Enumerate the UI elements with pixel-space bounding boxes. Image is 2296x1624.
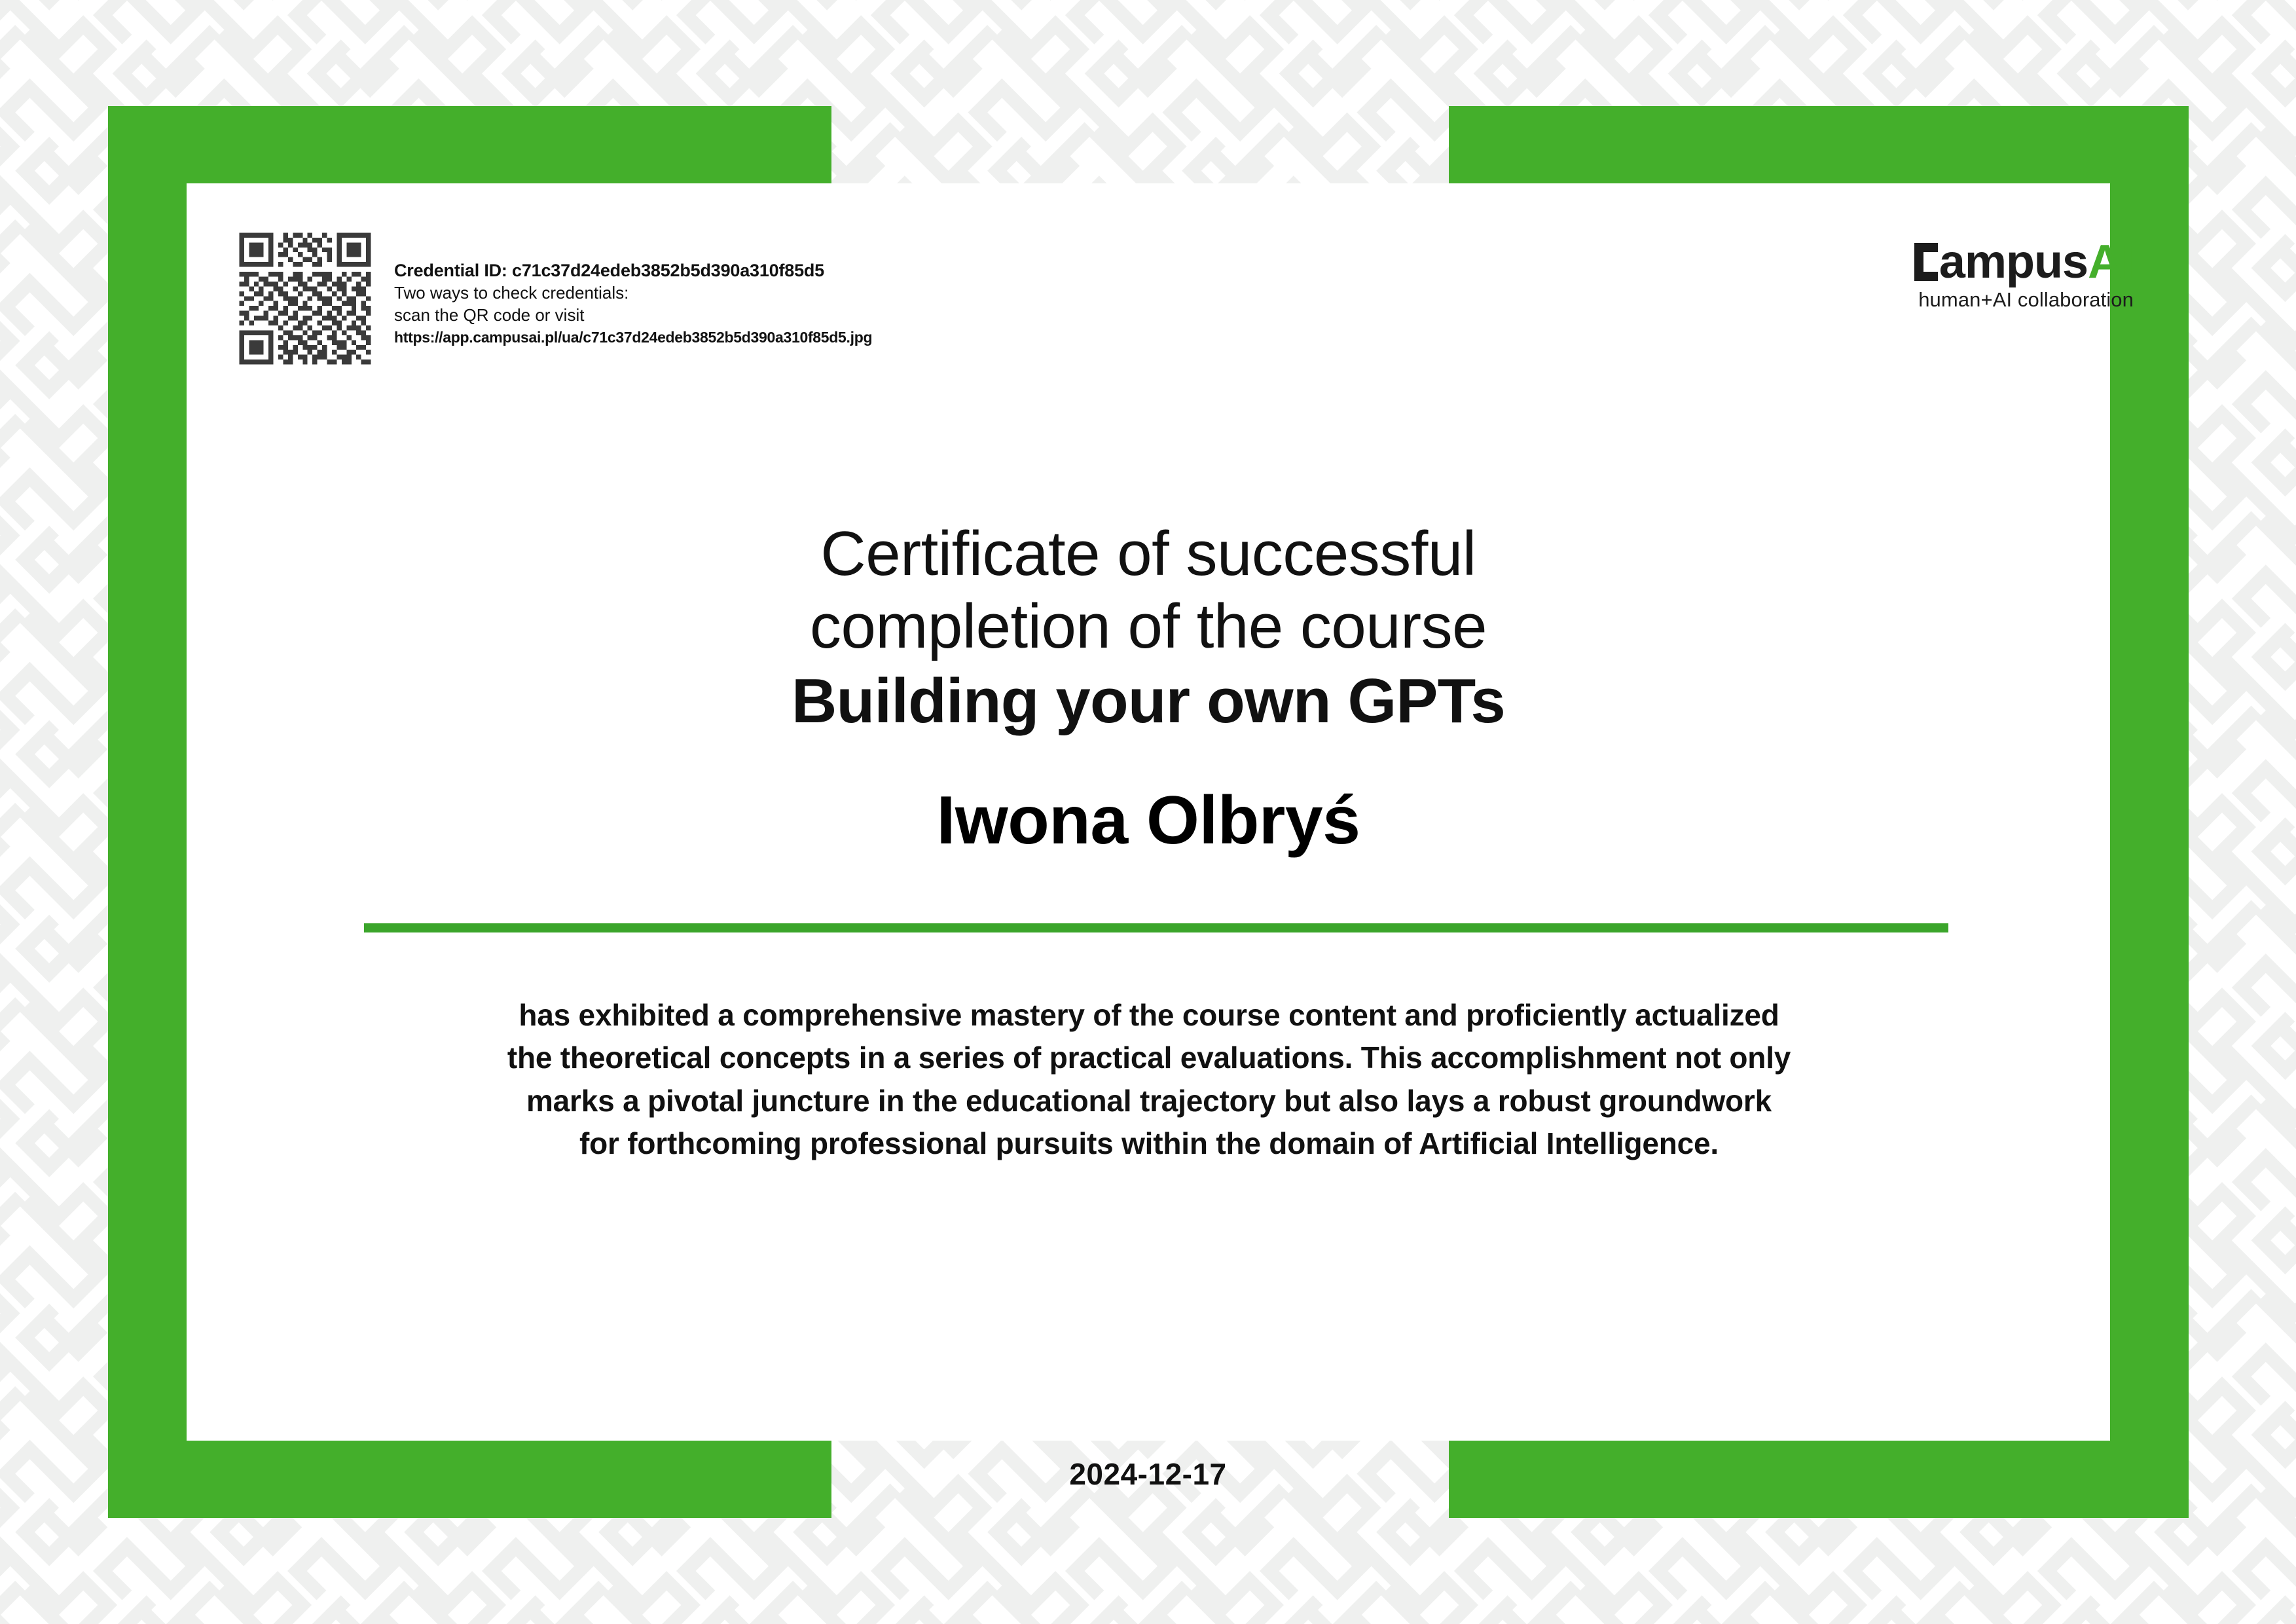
- recipient-name: Iwona Olbryś: [187, 782, 2110, 860]
- logo-wordmark: ampus AI: [1914, 241, 2134, 282]
- certificate-body-text: has exhibited a comprehensive mastery of…: [327, 994, 1971, 1165]
- campusai-logo: ampus AI human+AI collaboration: [1914, 241, 2134, 312]
- credential-instruction-line-1: Two ways to check credentials:: [394, 282, 872, 304]
- certificate-title: Certificate of successful completion of …: [187, 517, 2110, 663]
- logo-c-glyph-icon: [1914, 243, 1938, 281]
- green-divider: [364, 923, 1948, 932]
- logo-brand-dark: ampus: [1939, 243, 2088, 282]
- certificate-title-line-1: Certificate of successful: [187, 517, 2110, 590]
- body-line-1: has exhibited a comprehensive mastery of…: [327, 994, 1971, 1037]
- logo-tagline: human+AI collaboration: [1914, 288, 2134, 312]
- credential-block: Credential ID: c71c37d24edeb3852b5d390a3…: [234, 228, 872, 369]
- credential-text-block: Credential ID: c71c37d24edeb3852b5d390a3…: [394, 228, 872, 348]
- body-line-3: marks a pivotal juncture in the educatio…: [327, 1080, 1971, 1122]
- body-line-2: the theoretical concepts in a series of …: [327, 1037, 1971, 1079]
- qr-code-icon[interactable]: [234, 228, 376, 369]
- course-name: Building your own GPTs: [187, 665, 2110, 737]
- certificate-title-line-2: completion of the course: [187, 590, 2110, 663]
- logo-brand-accent: AI: [2088, 243, 2134, 282]
- credential-id-label: Credential ID:: [394, 261, 507, 280]
- certificate-page: Credential ID: c71c37d24edeb3852b5d390a3…: [0, 0, 2296, 1624]
- body-line-4: for forthcoming professional pursuits wi…: [327, 1122, 1971, 1165]
- credential-instruction-line-2: scan the QR code or visit: [394, 304, 872, 327]
- credential-url[interactable]: https://app.campusai.pl/ua/c71c37d24edeb…: [394, 328, 872, 348]
- certificate-content: Certificate of successful completion of …: [187, 517, 2110, 860]
- credential-id-line: Credential ID: c71c37d24edeb3852b5d390a3…: [394, 259, 872, 282]
- credential-id-value: c71c37d24edeb3852b5d390a310f85d5: [512, 261, 824, 280]
- issue-date: 2024-12-17: [0, 1456, 2296, 1492]
